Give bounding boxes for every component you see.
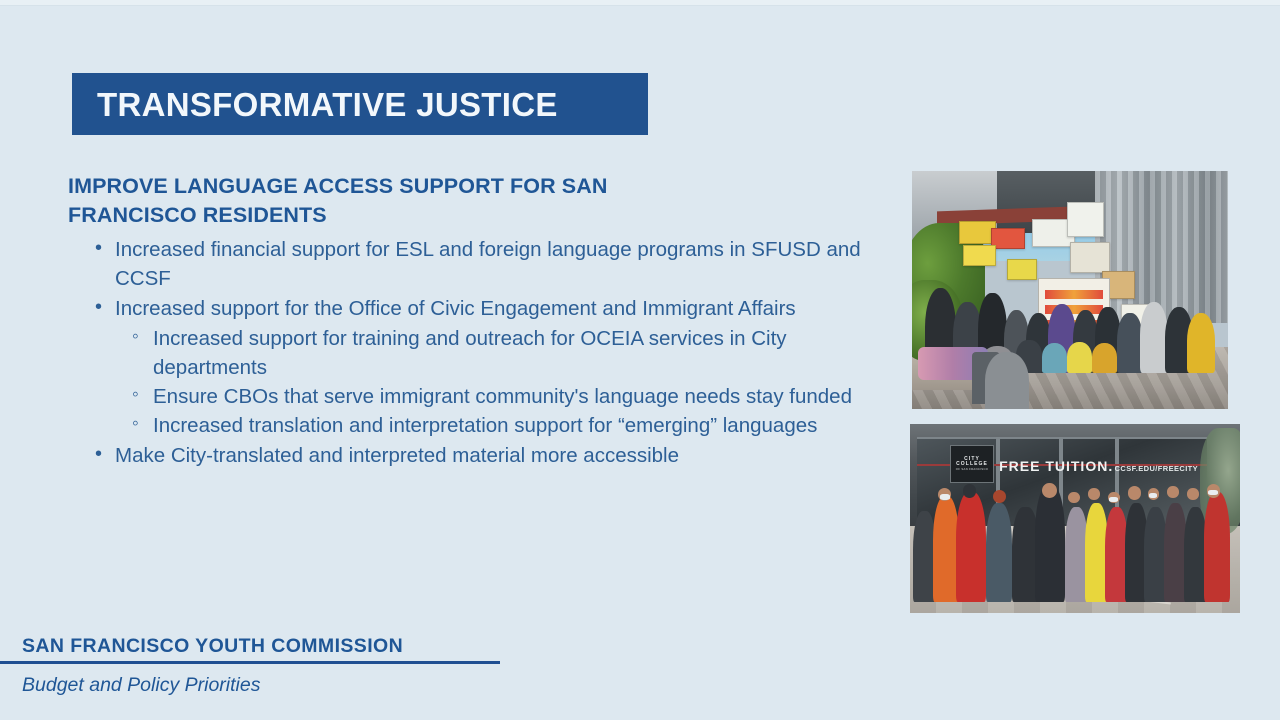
- bullet-item: Increased financial support for ESL and …: [88, 235, 868, 293]
- footer-subtitle: Budget and Policy Priorities: [0, 673, 520, 697]
- person: [956, 492, 986, 602]
- slide-title: TRANSFORMATIVE JUSTICE: [72, 88, 558, 121]
- ccsf-logo-line3: OF SAN FRANCISCO: [956, 468, 988, 471]
- person: [1204, 492, 1230, 602]
- freecity-url-text: CCSF.EDU/FREECITY: [1115, 464, 1198, 473]
- bullet-text: Make City-translated and interpreted mat…: [115, 441, 868, 470]
- head: [1088, 488, 1100, 499]
- person-seated: [1092, 343, 1117, 373]
- person-center-suit: [1035, 485, 1065, 602]
- sub-bullet-item: Ensure CBOs that serve immigrant communi…: [123, 382, 868, 411]
- sub-bullet-item: Increased translation and interpretation…: [123, 411, 868, 440]
- bullet-text: Increased support for the Office of Civi…: [115, 294, 868, 323]
- ccsf-logo: CITY COLLEGE OF SAN FRANCISCO: [950, 445, 995, 483]
- photo-rally-scene: [912, 171, 1228, 409]
- head: [1128, 486, 1141, 499]
- head-with-beret: [993, 490, 1006, 503]
- face-mask: [940, 494, 950, 500]
- person: [1117, 313, 1142, 374]
- person-foreground-masked: [985, 352, 1029, 409]
- person-seated: [1042, 343, 1067, 373]
- face-mask: [1208, 490, 1217, 495]
- head: [1042, 483, 1057, 498]
- slide-canvas: TRANSFORMATIVE JUSTICE IMPROVE LANGUAGE …: [0, 0, 1280, 720]
- sub-bullet-text: Increased translation and interpretation…: [153, 411, 868, 440]
- slide-footer: SAN FRANCISCO YOUTH COMMISSION Budget an…: [0, 634, 520, 698]
- sub-bullet-item: Increased support for training and outre…: [123, 324, 868, 382]
- photo-ccsf-scene: CITY COLLEGE OF SAN FRANCISCO FREE TUITI…: [910, 424, 1240, 613]
- person-seated: [1067, 342, 1092, 374]
- top-edge-strip: [0, 0, 1280, 6]
- head: [1187, 488, 1199, 499]
- bullet-list-level1: Increased financial support for ESL and …: [68, 235, 868, 470]
- footer-divider: [0, 661, 500, 664]
- head: [1167, 486, 1179, 497]
- face-mask: [1149, 493, 1158, 498]
- person: [1187, 313, 1215, 374]
- bullet-list-level2: Increased support for training and outre…: [115, 324, 868, 440]
- photo-ccsf-group: CITY COLLEGE OF SAN FRANCISCO FREE TUITI…: [910, 424, 1240, 613]
- person: [1140, 302, 1168, 374]
- face-mask: [1109, 497, 1118, 502]
- section-headline: IMPROVE LANGUAGE ACCESS SUPPORT FOR SAN …: [68, 172, 738, 229]
- slide-body: IMPROVE LANGUAGE ACCESS SUPPORT FOR SAN …: [68, 172, 868, 471]
- bullet-text: Increased financial support for ESL and …: [115, 235, 868, 293]
- photo-rally: [912, 171, 1228, 409]
- slide-title-banner: TRANSFORMATIVE JUSTICE: [72, 73, 648, 135]
- sub-bullet-text: Increased support for training and outre…: [153, 324, 868, 382]
- bullet-item: Increased support for the Office of Civi…: [88, 294, 868, 440]
- person: [986, 503, 1012, 601]
- free-tuition-text: FREE TUITION.: [999, 458, 1113, 474]
- sub-bullet-text: Ensure CBOs that serve immigrant communi…: [153, 382, 868, 411]
- head: [963, 484, 976, 497]
- footer-organization: SAN FRANCISCO YOUTH COMMISSION: [0, 634, 520, 658]
- bullet-item: Make City-translated and interpreted mat…: [88, 441, 868, 470]
- sign: [1067, 202, 1104, 237]
